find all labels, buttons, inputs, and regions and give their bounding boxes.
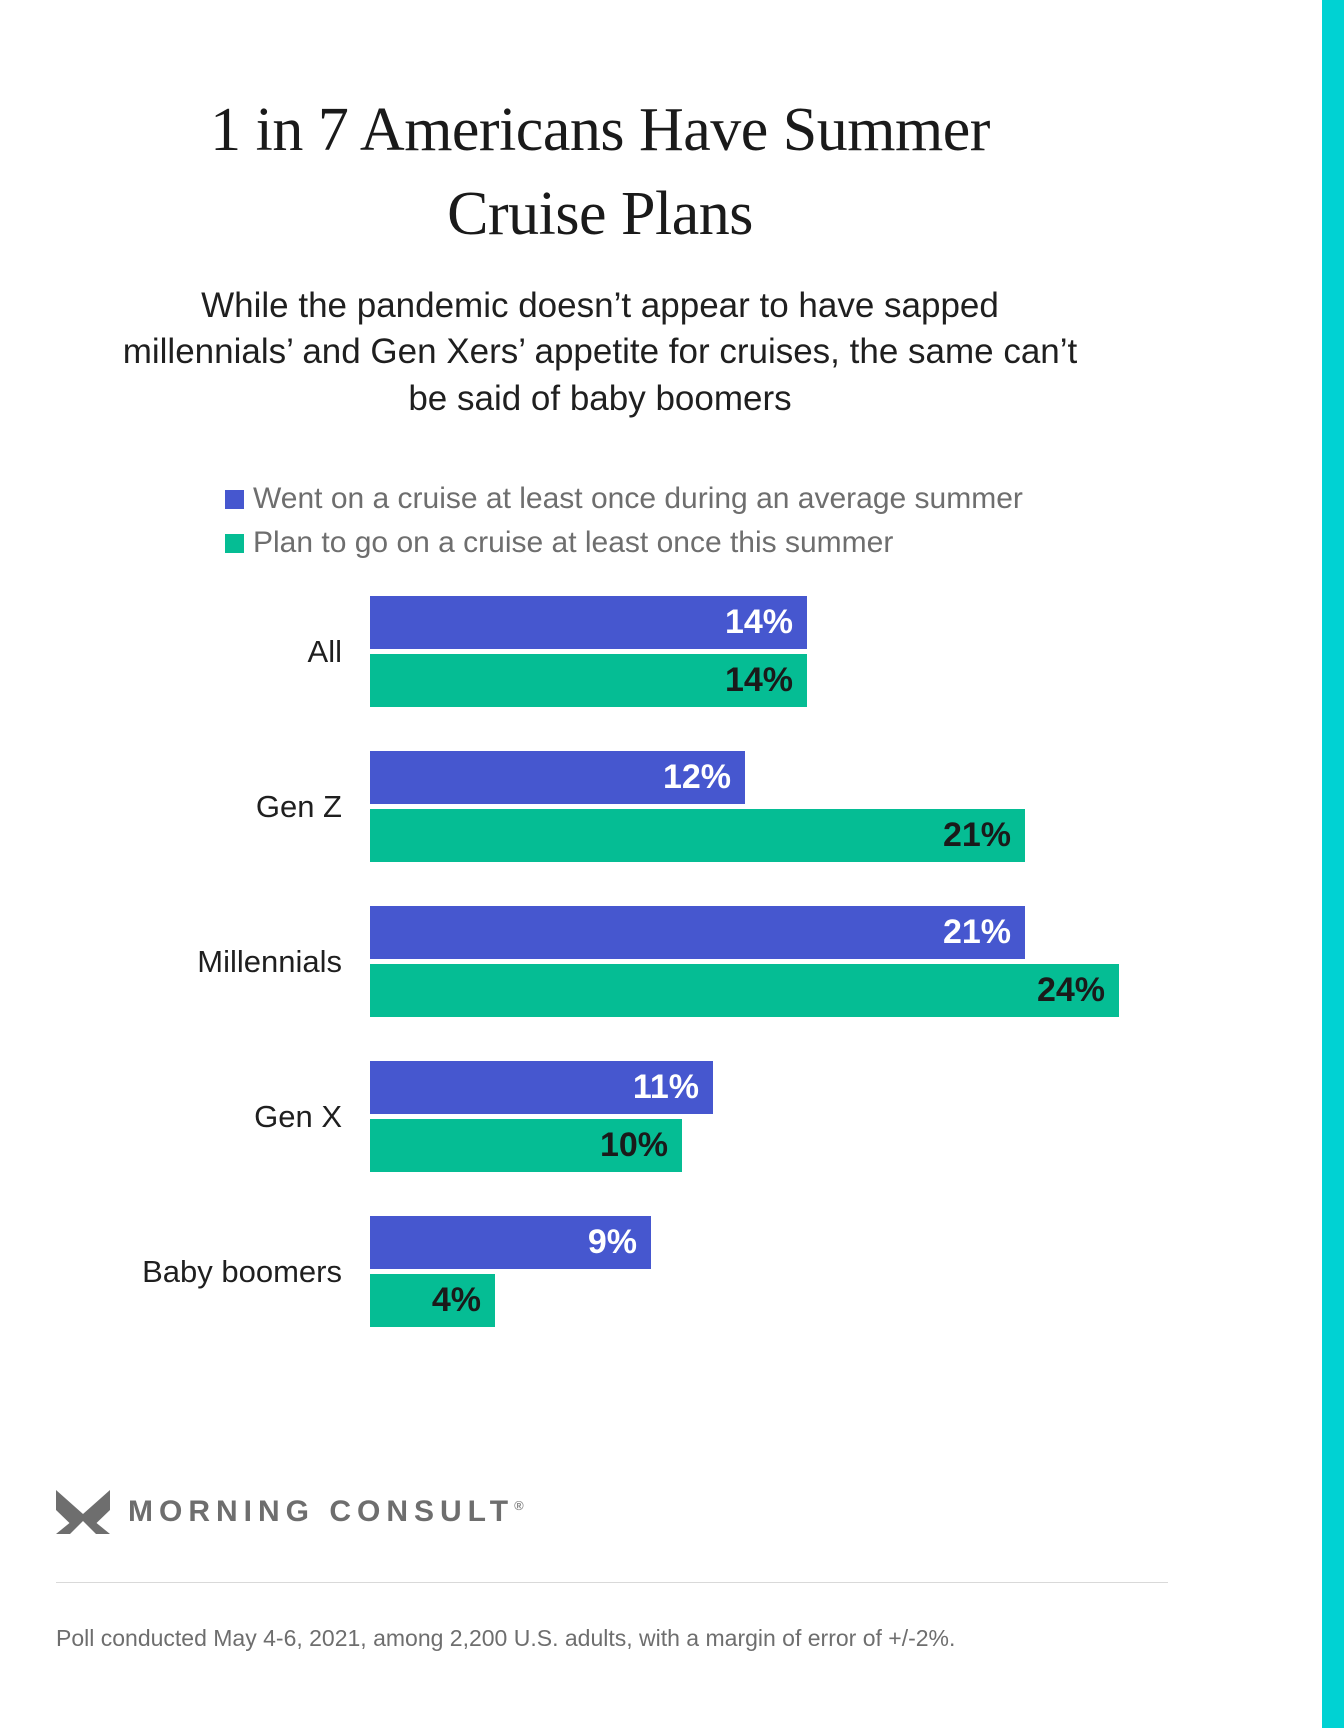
category-label-gen-z: Gen Z bbox=[40, 789, 370, 825]
bar-value-plan: 21% bbox=[943, 816, 1011, 855]
bar-value-past: 12% bbox=[663, 758, 731, 797]
bar-plan: 4% bbox=[370, 1274, 495, 1327]
bar-pair: 12% 21% bbox=[370, 751, 1160, 862]
bar-chart: All 14% 14% Gen Z 12% 21% bbox=[40, 596, 1160, 1327]
bar-plan: 10% bbox=[370, 1119, 682, 1172]
bar-value-past: 14% bbox=[725, 603, 793, 642]
legend-item-past: Went on a cruise at least once during an… bbox=[225, 484, 1160, 514]
legend-label-past: Went on a cruise at least once during an… bbox=[253, 484, 1023, 514]
legend-label-plan: Plan to go on a cruise at least once thi… bbox=[253, 528, 893, 558]
registered-mark-icon: ® bbox=[514, 1498, 524, 1513]
category-label-all: All bbox=[40, 634, 370, 670]
accent-bar bbox=[1322, 0, 1344, 1728]
chart-legend: Went on a cruise at least once during an… bbox=[40, 484, 1160, 558]
footer: MORNING CONSULT® Poll conducted May 4-6,… bbox=[40, 1490, 1200, 1652]
brand-logo: MORNING CONSULT® bbox=[40, 1490, 1200, 1534]
bar-group-all: All 14% 14% bbox=[40, 596, 1160, 707]
footer-divider bbox=[56, 1582, 1168, 1583]
brand-name: MORNING CONSULT bbox=[128, 1495, 514, 1528]
legend-swatch-blue-icon bbox=[225, 490, 244, 509]
bar-value-plan: 4% bbox=[432, 1281, 481, 1320]
bar-group-gen-x: Gen X 11% 10% bbox=[40, 1061, 1160, 1172]
bar-group-millennials: Millennials 21% 24% bbox=[40, 906, 1160, 1017]
bar-past: 12% bbox=[370, 751, 745, 804]
page-title: 1 in 7 Americans Have Summer Cruise Plan… bbox=[40, 88, 1160, 257]
methodology-note: Poll conducted May 4-6, 2021, among 2,20… bbox=[56, 1625, 1200, 1652]
bar-past: 14% bbox=[370, 596, 807, 649]
morning-consult-chevron-icon bbox=[56, 1490, 110, 1534]
bar-past: 21% bbox=[370, 906, 1025, 959]
bar-plan: 24% bbox=[370, 964, 1119, 1017]
bar-group-gen-z: Gen Z 12% 21% bbox=[40, 751, 1160, 862]
bar-group-baby-boomers: Baby boomers 9% 4% bbox=[40, 1216, 1160, 1327]
bar-value-past: 11% bbox=[633, 1068, 699, 1107]
bar-plan: 21% bbox=[370, 809, 1025, 862]
category-label-gen-x: Gen X bbox=[40, 1099, 370, 1135]
legend-swatch-green-icon bbox=[225, 534, 244, 553]
bar-value-plan: 24% bbox=[1037, 971, 1105, 1010]
bar-pair: 9% 4% bbox=[370, 1216, 1160, 1327]
brand-logo-text: MORNING CONSULT® bbox=[128, 1495, 524, 1529]
infographic-page: 1 in 7 Americans Have Summer Cruise Plan… bbox=[0, 0, 1200, 1728]
bar-past: 9% bbox=[370, 1216, 651, 1269]
page-subtitle: While the pandemic doesn’t appear to hav… bbox=[40, 283, 1160, 423]
bar-past: 11% bbox=[370, 1061, 713, 1114]
bar-value-past: 9% bbox=[588, 1223, 637, 1262]
bar-pair: 21% 24% bbox=[370, 906, 1160, 1017]
bar-pair: 14% 14% bbox=[370, 596, 1160, 707]
bar-plan: 14% bbox=[370, 654, 807, 707]
bar-pair: 11% 10% bbox=[370, 1061, 1160, 1172]
bar-value-plan: 10% bbox=[600, 1126, 668, 1165]
legend-item-plan: Plan to go on a cruise at least once thi… bbox=[225, 528, 1160, 558]
category-label-millennials: Millennials bbox=[40, 944, 370, 980]
bar-value-plan: 14% bbox=[725, 661, 793, 700]
bar-value-past: 21% bbox=[943, 913, 1011, 952]
category-label-baby-boomers: Baby boomers bbox=[40, 1254, 370, 1290]
